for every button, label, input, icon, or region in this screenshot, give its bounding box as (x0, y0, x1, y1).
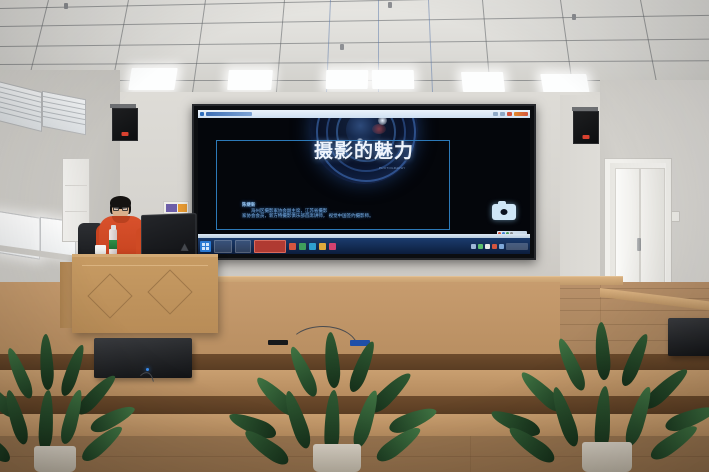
camera-icon-lens (500, 208, 509, 216)
speaker-name: 陈继新 (242, 202, 255, 207)
wooden-podium (72, 254, 218, 333)
volume-icon[interactable] (478, 244, 483, 249)
lecture-hall-photo: PHOTOGRAPHY 摄影的魅力 陈继新 海州区摄影家协会副主席，江苏省摄影 … (0, 0, 709, 472)
app-icon-folder[interactable] (319, 243, 326, 250)
bio-line-2: 家协会会员，新方特摄影俱乐部首席讲师， (242, 213, 327, 218)
wall-speaker-right (573, 111, 599, 144)
app-icon-media[interactable] (289, 243, 296, 250)
presentation-slide: PHOTOGRAPHY 摄影的魅力 陈继新 海州区摄影家协会副主席，江苏省摄影 … (198, 118, 530, 238)
panel-button[interactable] (178, 204, 187, 212)
door-leaf-right[interactable] (640, 168, 665, 300)
potted-plant-right (528, 322, 686, 472)
ceiling-light-panel (372, 70, 415, 89)
camera-icon (492, 204, 516, 220)
bottle-label (109, 240, 117, 249)
app-icon-chat[interactable] (309, 243, 316, 250)
sprinkler-head (388, 2, 392, 8)
tray-clock[interactable] (506, 243, 528, 250)
podium-diamond-inlay (147, 269, 192, 314)
tray-extra-icon[interactable] (499, 244, 504, 249)
screen-display: PHOTOGRAPHY 摄影的魅力 陈继新 海州区摄影家协会副主席，江苏省摄影 … (198, 110, 530, 254)
app-icon-browser[interactable] (299, 243, 306, 250)
wall-speaker-left (112, 108, 138, 141)
plant-pot (313, 444, 361, 472)
podium-panel (82, 265, 208, 326)
app-icon (200, 112, 204, 116)
speaker-bio: 陈继新 海州区摄影家协会副主席，江苏省摄影 家协会会员，新方特摄影俱乐部首席讲师… (242, 202, 424, 219)
sprinkler-head (572, 14, 576, 20)
close-icon[interactable] (507, 112, 512, 116)
door-handle[interactable] (637, 238, 641, 251)
ceiling-light-panel (461, 72, 505, 92)
app-titlebar (198, 110, 530, 118)
jbl-logo (583, 135, 590, 139)
potted-plant-left (0, 330, 110, 472)
maximize-icon[interactable] (500, 112, 505, 116)
ceiling-light-panel (540, 74, 590, 94)
panel-display (166, 204, 177, 212)
network-icon[interactable] (471, 244, 476, 249)
ceiling-light-panel (128, 68, 177, 90)
podium-diamond-inlay (87, 273, 132, 318)
laptop-logo (181, 243, 189, 251)
bottle-cap (111, 225, 116, 230)
monitor-led (146, 368, 149, 371)
plant-pot (582, 442, 632, 472)
input-method-icon[interactable] (485, 244, 490, 249)
taskbar-item[interactable] (214, 240, 232, 253)
potted-plant-center (262, 332, 412, 472)
bio-line-3: 视觉中国签约摄影师。 (329, 213, 374, 218)
slide-title: 摄影的魅力 (198, 142, 530, 161)
system-tray[interactable] (471, 243, 528, 250)
minimize-icon[interactable] (493, 112, 498, 116)
windows-taskbar[interactable] (198, 238, 530, 254)
security-icon[interactable] (492, 244, 497, 249)
led-video-wall: PHOTOGRAPHY 摄影的魅力 陈继新 海州区摄影家协会副主席，江苏省摄影 … (192, 104, 536, 260)
ceiling-light-panel (227, 70, 273, 90)
taskbar-item[interactable] (235, 240, 251, 253)
sprinkler-head (340, 44, 344, 50)
plant-pot (34, 446, 76, 472)
ceiling-light-panel (326, 70, 369, 89)
start-button-icon[interactable] (200, 241, 211, 252)
jbl-logo (122, 132, 129, 136)
water-bottle (109, 229, 117, 256)
sprinkler-head (64, 3, 68, 9)
app-icon-heart[interactable] (329, 243, 336, 250)
taskbar-item-active[interactable] (254, 240, 286, 253)
glasses-icon (113, 207, 128, 211)
wall-control-panel[interactable] (163, 201, 189, 214)
titlebar-text (206, 112, 252, 116)
titlebar-extra (514, 112, 528, 116)
